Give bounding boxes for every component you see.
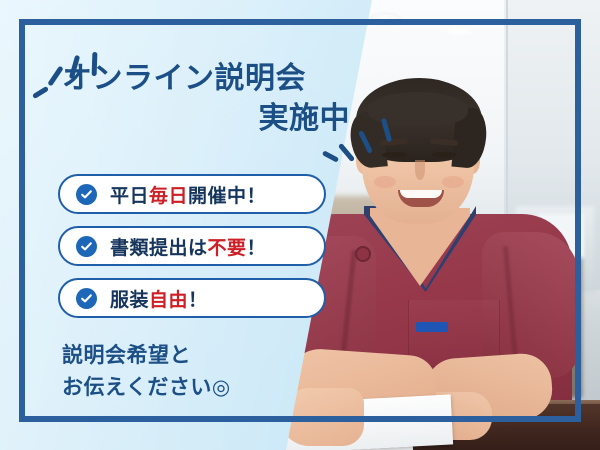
headline-line-2: 実施中 [62,102,362,136]
feature-pill-3-suffix: ！ [188,289,208,311]
footer-note-line-1: 説明会希望と [62,340,231,372]
staff-teeth [400,190,442,198]
check-circle-icon [76,288,97,309]
feature-pill-1-highlight: 毎日 [149,185,188,207]
banner-canvas: オンライン説明会 実施中 平日毎日開催中！ 書類提出は不要！ 服装自由！ 説明会… [0,0,600,450]
staff-nose [415,160,425,180]
staff-cheek-right [442,176,464,188]
feature-pill-2-highlight: 不要 [208,237,247,259]
ceiling-light [368,12,402,26]
footer-note: 説明会希望と お伝えください◎ [62,340,231,403]
feature-pill-2: 書類提出は不要！ [58,226,326,266]
feature-pill-3: 服装自由！ [58,278,326,318]
feature-pill-3-prefix: 服装 [110,289,149,311]
staff-eye-right [432,152,457,158]
feature-pill-2-text: 書類提出は不要！ [110,233,266,260]
feature-pill-1-suffix: 開催中！ [188,185,266,207]
feature-pill-3-text: 服装自由！ [110,285,208,312]
headline: オンライン説明会 実施中 [62,62,362,135]
check-circle-icon [76,236,97,257]
check-circle-icon [76,184,97,205]
feature-pill-1: 平日毎日開催中！ [58,174,326,214]
ceiling-light-secondary [446,26,472,36]
feature-pill-1-text: 平日毎日開催中！ [110,181,266,208]
staff-cheek-left [374,176,396,188]
feature-pill-1-prefix: 平日 [110,185,149,207]
footer-note-line-2: お伝えください◎ [62,372,231,404]
feature-pill-2-prefix: 書類提出は [110,237,208,259]
scrub-grommet [355,246,371,262]
headline-line-1: オンライン説明会 [62,62,362,96]
feature-pill-3-highlight: 自由 [149,289,188,311]
feature-list: 平日毎日開催中！ 書類提出は不要！ 服装自由！ [58,174,326,330]
feature-pill-2-suffix: ！ [247,237,267,259]
scrub-name-badge [416,322,448,332]
